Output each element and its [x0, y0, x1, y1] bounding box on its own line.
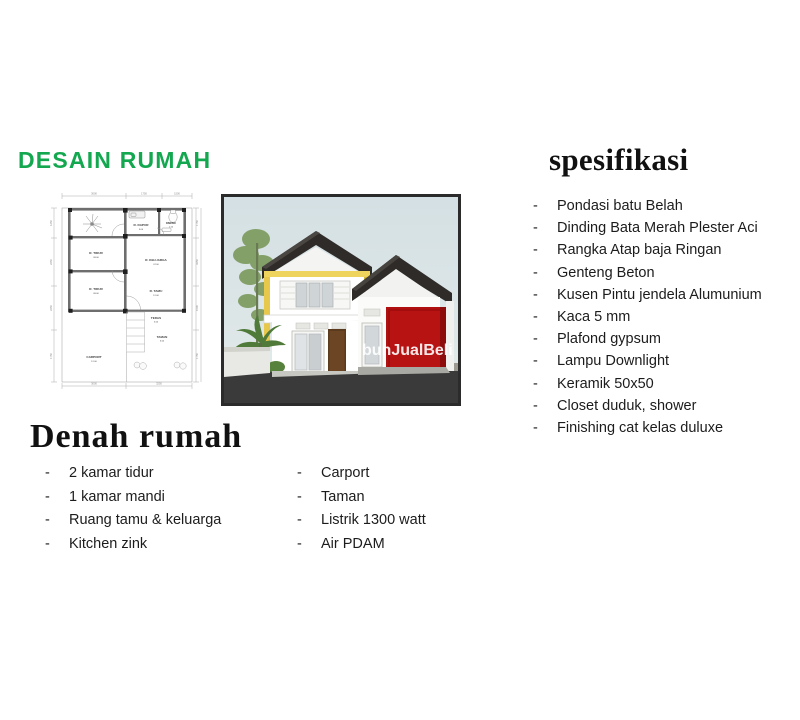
dash-bullet-icon: -	[45, 462, 50, 486]
spesifikasi-item-label: Lampu Downlight	[557, 353, 669, 369]
svg-text:1750: 1750	[195, 220, 199, 226]
svg-text:3000: 3000	[91, 192, 97, 196]
denah-left-item-label: 2 kamar tidur	[69, 465, 154, 481]
svg-text:R. TIDUR: R. TIDUR	[89, 251, 103, 255]
denah-right-item-label: Carport	[321, 465, 369, 481]
svg-text:TERAS: TERAS	[151, 316, 161, 320]
spesifikasi-item-label: Plafond gypsum	[557, 331, 661, 347]
svg-text:R. DAPUR: R. DAPUR	[134, 223, 150, 227]
dash-bullet-icon: -	[533, 284, 538, 306]
spesifikasi-item: -Kusen Pintu jendela Alumunium	[533, 284, 762, 306]
dash-bullet-icon: -	[45, 533, 50, 557]
svg-text:1500: 1500	[174, 192, 180, 196]
spesifikasi-item-label: Kusen Pintu jendela Alumunium	[557, 287, 762, 303]
spesifikasi-item: -Pondasi batu Belah	[533, 195, 762, 217]
svg-text:1750: 1750	[141, 192, 147, 196]
dash-bullet-icon: -	[533, 417, 538, 439]
svg-text:1750: 1750	[49, 353, 53, 359]
dash-bullet-icon: -	[533, 262, 538, 284]
denah-right-item: -Air PDAM	[297, 533, 426, 557]
spesifikasi-item: -Dinding Bata Merah Plester Aci	[533, 217, 762, 239]
section-title-spesifikasi: spesifikasi	[549, 142, 688, 178]
svg-text:07.00: 07.00	[153, 264, 159, 266]
svg-text:CARPORT: CARPORT	[86, 355, 101, 359]
dash-bullet-icon: -	[533, 239, 538, 261]
svg-text:3250: 3250	[156, 382, 162, 386]
svg-text:R. TAMU: R. TAMU	[150, 289, 163, 293]
spesifikasi-item-label: Genteng Beton	[557, 265, 655, 281]
denah-right-item: -Taman	[297, 486, 426, 510]
svg-text:3250: 3250	[195, 259, 199, 265]
house-render-image: bunJualBeli	[221, 194, 461, 406]
svg-text:R. KELUARGA: R. KELUARGA	[145, 258, 167, 262]
denah-list-right: -Carport-Taman-Listrik 1300 watt-Air PDA…	[297, 462, 426, 556]
dash-bullet-icon: -	[297, 509, 302, 533]
denah-left-item: -2 kamar tidur	[45, 462, 221, 486]
dash-bullet-icon: -	[533, 350, 538, 372]
floorplan-drawing: R. DAPUR 3.00 KM/WC 1.50 R. KELUARGA 07.…	[40, 190, 202, 392]
page-title-desain-rumah: DESAIN RUMAH	[18, 147, 211, 174]
svg-text:2250: 2250	[49, 259, 53, 265]
spesifikasi-list: -Pondasi batu Belah-Dinding Bata Merah P…	[533, 195, 762, 439]
spesifikasi-item: -Genteng Beton	[533, 262, 762, 284]
spesifikasi-item-label: Keramik 50x50	[557, 376, 654, 392]
spesifikasi-item: -Kaca 5 mm	[533, 306, 762, 328]
dash-bullet-icon: -	[533, 217, 538, 239]
denah-right-item-label: Air PDAM	[321, 536, 385, 552]
dash-bullet-icon: -	[45, 486, 50, 510]
denah-right-item-label: Listrik 1300 watt	[321, 512, 426, 528]
dash-bullet-icon: -	[297, 462, 302, 486]
poster-canvas: DESAIN RUMAH spesifikasi Denah rumah -Po…	[0, 0, 800, 720]
dash-bullet-icon: -	[297, 533, 302, 557]
svg-text:3000: 3000	[91, 382, 97, 386]
denah-left-item: -1 kamar mandi	[45, 486, 221, 510]
denah-right-item: -Carport	[297, 462, 426, 486]
dash-bullet-icon: -	[533, 395, 538, 417]
dash-bullet-icon: -	[45, 509, 50, 533]
svg-text:1250: 1250	[49, 220, 53, 226]
svg-text:2250: 2250	[49, 305, 53, 311]
svg-text:KM/WC: KM/WC	[166, 221, 177, 225]
spesifikasi-item-label: Pondasi batu Belah	[557, 198, 683, 214]
spesifikasi-item: -Keramik 50x50	[533, 373, 762, 395]
spesifikasi-item-label: Closet duduk, shower	[557, 398, 696, 414]
section-title-denah-rumah: Denah rumah	[30, 418, 242, 456]
svg-text:bunJualBeli: bunJualBeli	[362, 342, 453, 359]
spesifikasi-item: -Plafond gypsum	[533, 328, 762, 350]
dash-bullet-icon: -	[533, 328, 538, 350]
dash-bullet-icon: -	[533, 195, 538, 217]
svg-text:09.00: 09.00	[93, 293, 99, 295]
dash-bullet-icon: -	[533, 306, 538, 328]
svg-text:R. TIDUR: R. TIDUR	[89, 287, 103, 291]
svg-text:TAMAN: TAMAN	[157, 335, 168, 339]
spesifikasi-item-label: Kaca 5 mm	[557, 309, 630, 325]
dash-bullet-icon: -	[533, 373, 538, 395]
spesifikasi-item: -Rangka Atap baja Ringan	[533, 239, 762, 261]
svg-text:09.00: 09.00	[93, 257, 99, 259]
spesifikasi-item-label: Finishing cat kelas duluxe	[557, 420, 723, 436]
svg-text:1750: 1750	[195, 353, 199, 359]
svg-text:12.00: 12.00	[91, 361, 97, 363]
denah-right-item-label: Taman	[321, 489, 365, 505]
denah-right-item: -Listrik 1300 watt	[297, 509, 426, 533]
denah-list-left: -2 kamar tidur-1 kamar mandi-Ruang tamu …	[45, 462, 221, 556]
denah-left-item-label: Ruang tamu & keluarga	[69, 512, 221, 528]
denah-left-item: -Ruang tamu & keluarga	[45, 509, 221, 533]
denah-left-item-label: Kitchen zink	[69, 536, 147, 552]
svg-text:12.00: 12.00	[153, 295, 159, 297]
dash-bullet-icon: -	[297, 486, 302, 510]
spesifikasi-item: -Finishing cat kelas duluxe	[533, 417, 762, 439]
svg-text:1500: 1500	[195, 305, 199, 311]
spesifikasi-item-label: Dinding Bata Merah Plester Aci	[557, 220, 758, 236]
spesifikasi-item: -Closet duduk, shower	[533, 395, 762, 417]
spesifikasi-item: -Lampu Downlight	[533, 350, 762, 372]
spesifikasi-item-label: Rangka Atap baja Ringan	[557, 242, 721, 258]
denah-left-item-label: 1 kamar mandi	[69, 489, 165, 505]
denah-left-item: -Kitchen zink	[45, 533, 221, 557]
